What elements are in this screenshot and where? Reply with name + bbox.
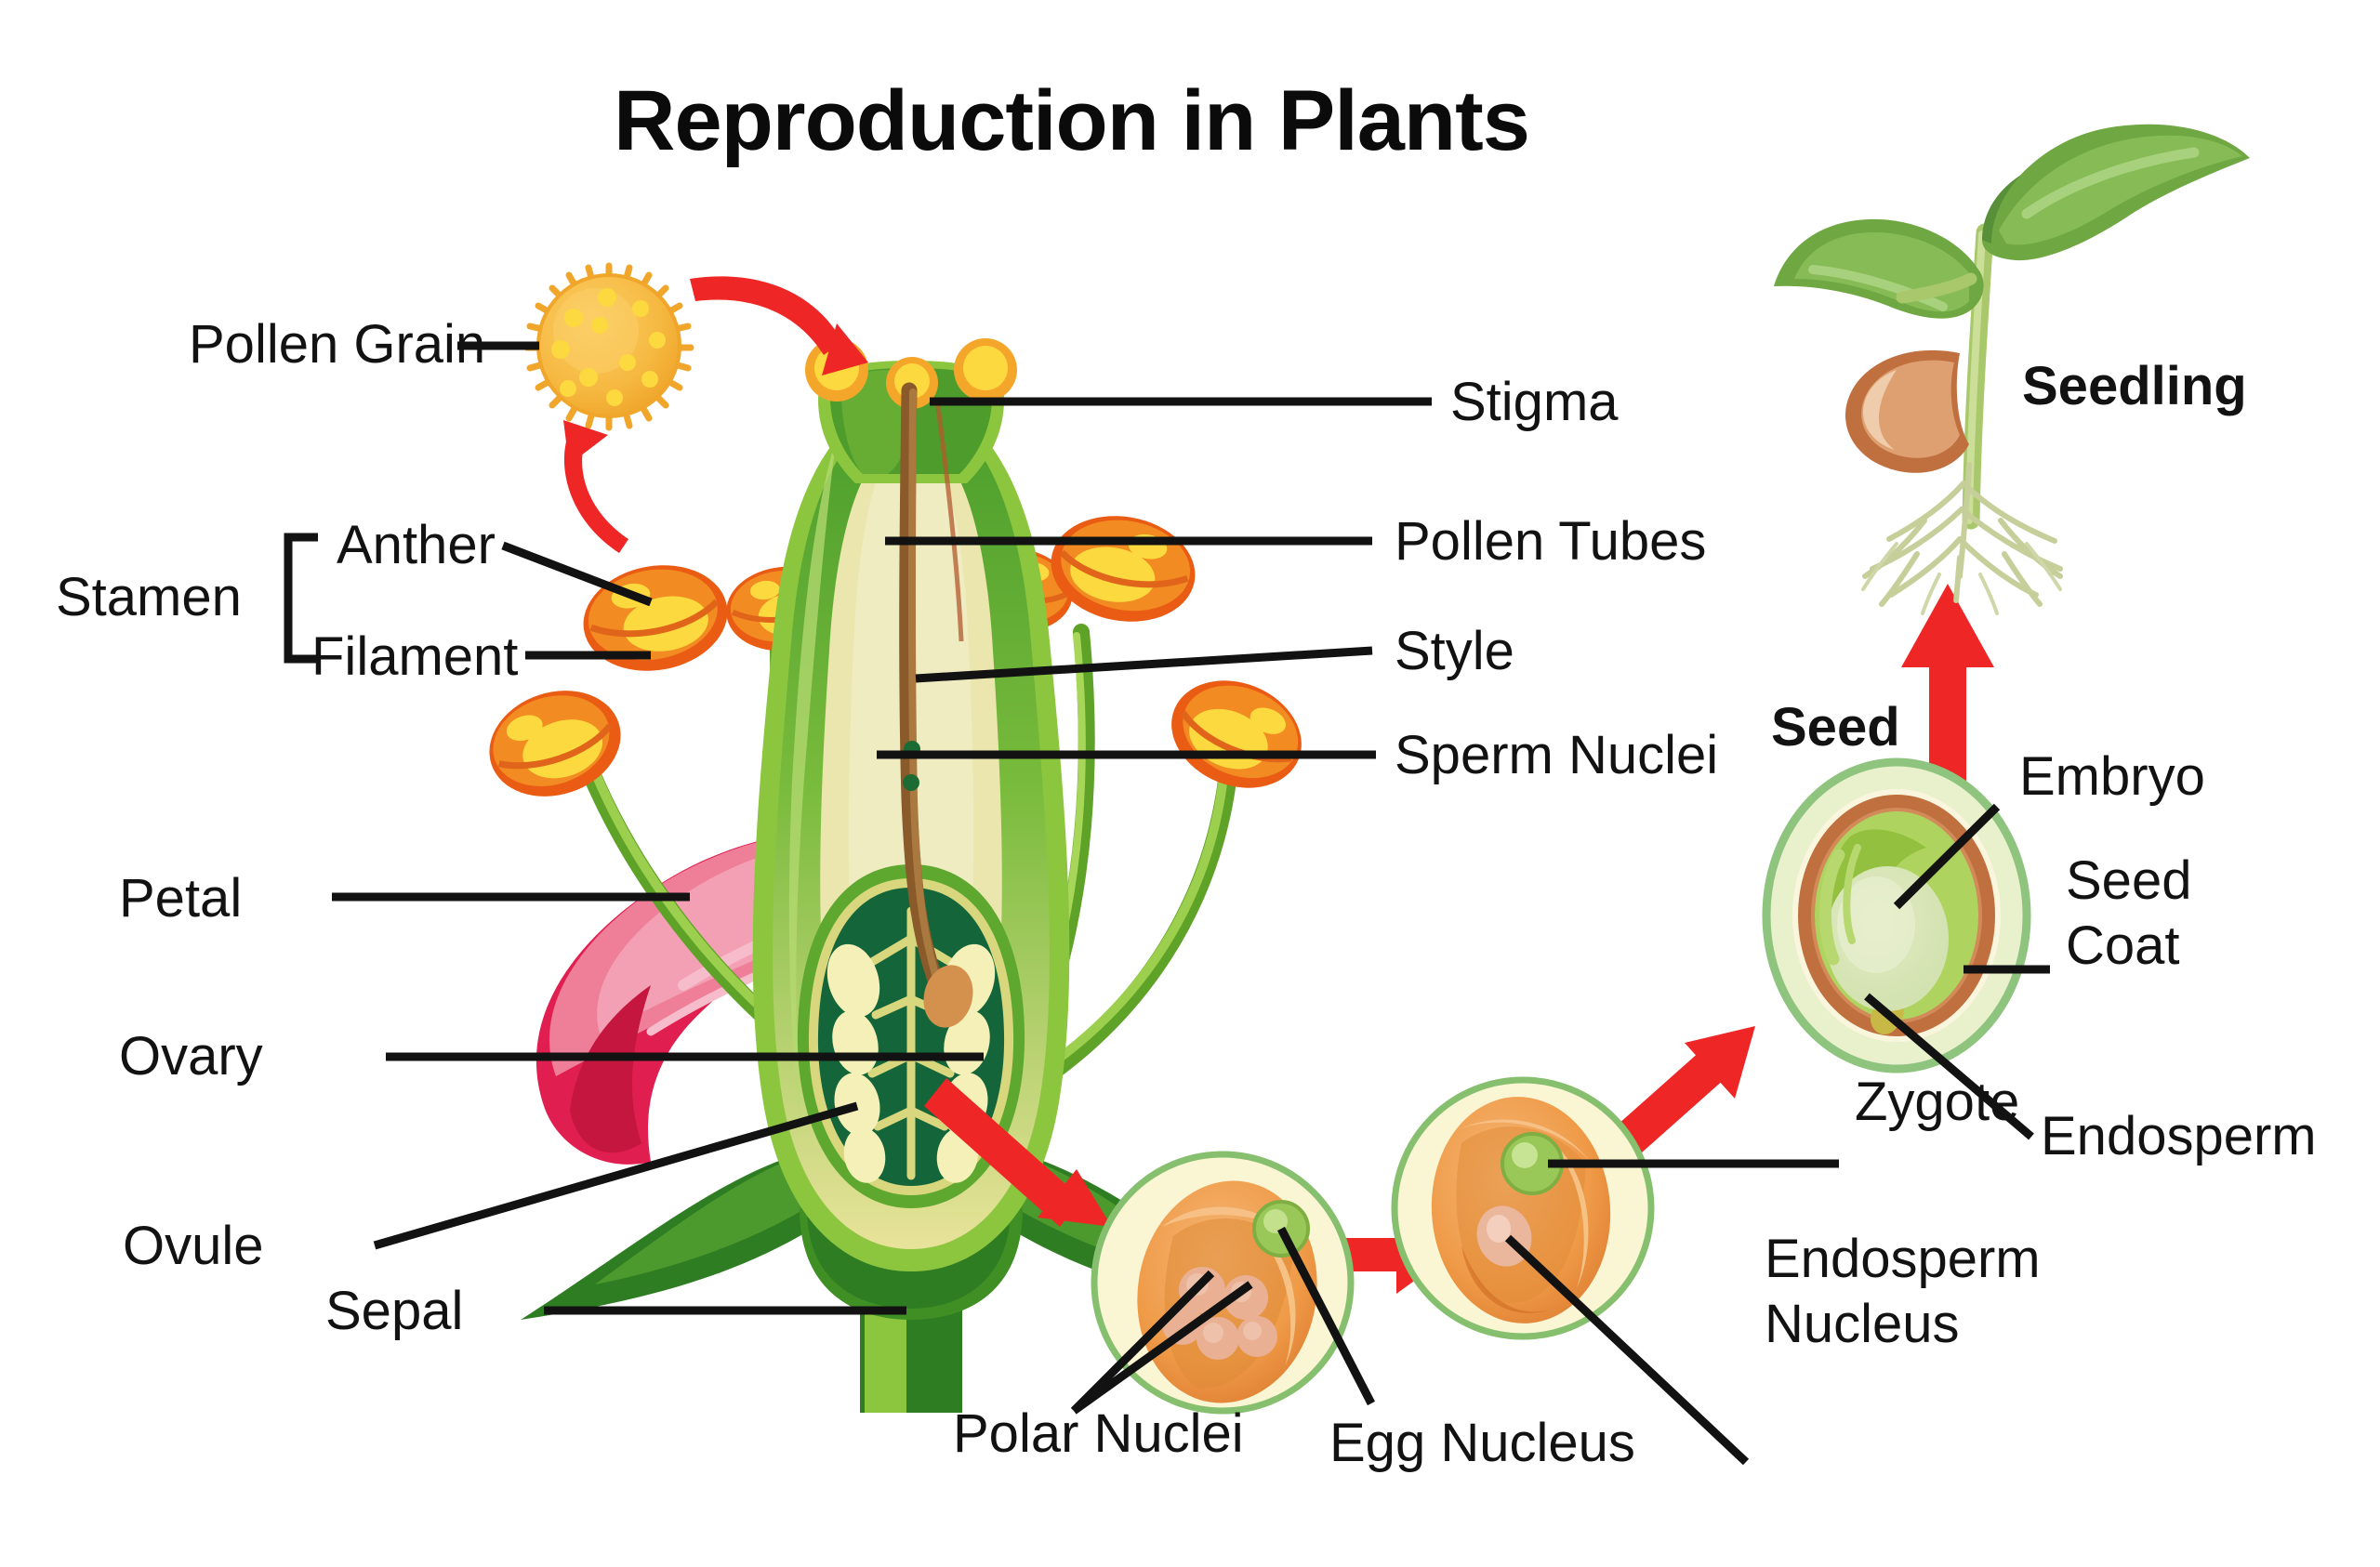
label-pollen-grain: Pollen Grain [189, 316, 485, 375]
label-seed-coat-line1: Seed [2066, 853, 2191, 909]
label-petal: Petal [119, 870, 242, 928]
label-egg-nucleus: Egg Nucleus [1329, 1415, 1635, 1473]
label-ovary: Ovary [119, 1028, 263, 1086]
label-anther: Anther [337, 517, 496, 575]
label-endosperm: Endosperm [2041, 1108, 2317, 1166]
pistil-and-ovary [753, 338, 1070, 1413]
label-ovule: Ovule [123, 1218, 264, 1276]
diagram-canvas: Reproduction in Plants Pollen Grain Stam… [0, 0, 2380, 1567]
page-title: Reproduction in Plants [614, 72, 1529, 170]
label-pollen-tubes: Pollen Tubes [1395, 513, 1706, 572]
label-seed: Seed [1771, 699, 1900, 757]
label-seed-coat-line2: Coat [2066, 918, 2180, 974]
label-stigma: Stigma [1450, 374, 1619, 432]
label-style: Style [1395, 623, 1514, 681]
label-sepal: Sepal [325, 1283, 463, 1341]
label-filament: Filament [311, 628, 518, 687]
label-embryo: Embryo [2019, 748, 2205, 807]
label-sperm-nuclei: Sperm Nuclei [1395, 727, 1718, 785]
sperm-nucleus-dot [903, 774, 919, 791]
pollen-grain-shape [527, 266, 691, 428]
ovule-circle-zygote [1395, 1080, 1651, 1337]
label-stamen: Stamen [56, 569, 242, 627]
label-seedling: Seedling [2022, 358, 2247, 416]
label-endosperm-nucleus-line1: Endosperm [1765, 1231, 2041, 1287]
label-polar-nuclei: Polar Nuclei [953, 1405, 1244, 1464]
label-endosperm-nucleus-line2: Nucleus [1765, 1297, 1960, 1352]
label-zygote: Zygote [1855, 1073, 2019, 1132]
